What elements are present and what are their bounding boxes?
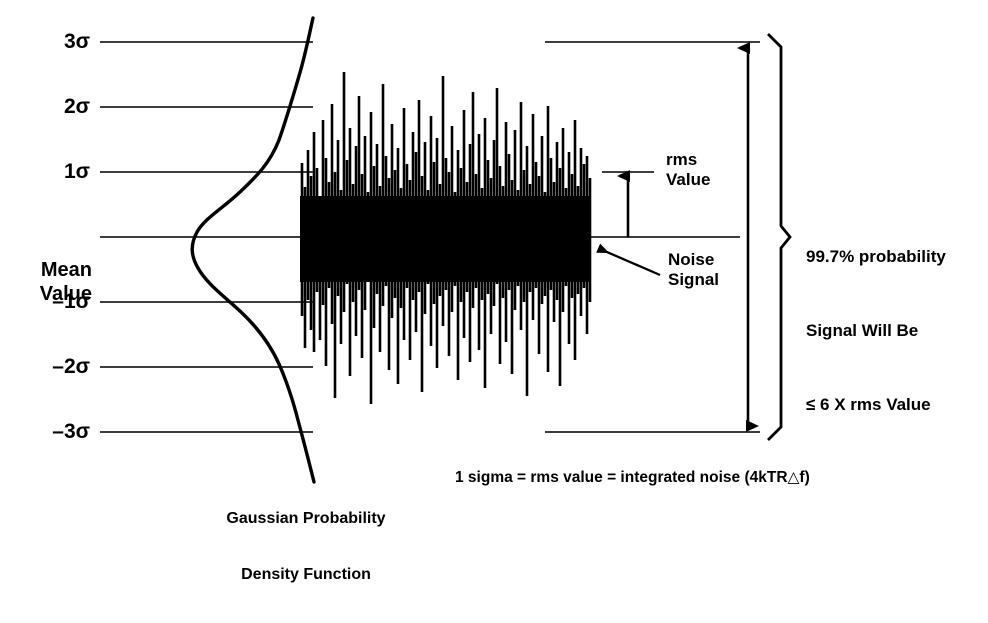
noise-signal-label: Noise Signal xyxy=(668,250,719,290)
probability-note: 99.7% probability Signal Will Be ≤ 6 X r… xyxy=(806,196,946,467)
pdf-caption: Gaussian Probability Density Function xyxy=(182,472,430,623)
rms-value-label: rms Value xyxy=(666,150,710,190)
axis-label-minus3sigma: –3σ xyxy=(16,420,90,445)
axis-label-plus2sigma: 2σ xyxy=(16,95,90,120)
rms-value-measure xyxy=(602,172,654,237)
probability-note-line-2: Signal Will Be xyxy=(806,319,946,344)
axis-label-minus1sigma: –1σ xyxy=(16,290,90,315)
noise-formula: 1 sigma = rms value = integrated noise (… xyxy=(455,469,810,487)
axis-label-plus1sigma: 1σ xyxy=(16,160,90,185)
noise-waveform xyxy=(300,72,590,404)
probability-brace xyxy=(768,34,790,440)
axis-label-plus3sigma: 3σ xyxy=(16,30,90,55)
gaussian-curve xyxy=(192,18,314,482)
pdf-caption-line-1: Gaussian Probability xyxy=(182,510,430,529)
probability-note-line-1: 99.7% probability xyxy=(806,245,946,270)
pdf-caption-line-2: Density Function xyxy=(182,566,430,585)
noise-signal-pointer xyxy=(600,249,660,275)
probability-note-line-3: ≤ 6 X rms Value xyxy=(806,393,946,418)
axis-label-mean: Mean Value xyxy=(6,212,92,354)
axis-label-minus2sigma: –2σ xyxy=(16,355,90,380)
diagram-canvas: 3σ 2σ 1σ Mean Value –1σ –2σ –3σ rms Valu… xyxy=(0,0,988,528)
